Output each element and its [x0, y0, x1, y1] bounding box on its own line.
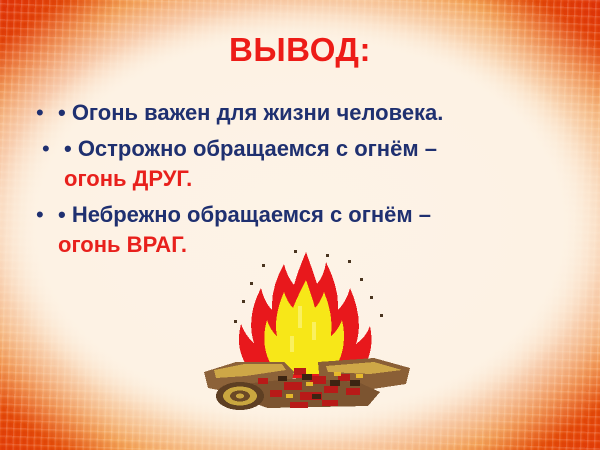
list-item: • • Острожно обращаемся с огнём – огонь … — [36, 134, 536, 194]
list-item-text: • Огонь важен для жизни человека. — [58, 98, 443, 128]
bullet-marker-icon: • — [36, 200, 58, 230]
bullet-marker-icon: • — [36, 134, 64, 164]
list-item: • • Огонь важен для жизни человека. — [36, 98, 536, 128]
bullet-marker-icon: • — [36, 98, 58, 128]
list-item-text: • Острожно обращаемся с огнём – огонь ДР… — [64, 134, 437, 194]
list-item-accent: огонь ДРУГ. — [64, 164, 437, 194]
log-end-rings — [216, 382, 264, 410]
list-item-main: • Острожно обращаемся с огнём – — [64, 136, 437, 161]
bullet-list: • • Огонь важен для жизни человека. • • … — [36, 98, 536, 266]
slide-content: ВЫВОД: • • Огонь важен для жизни человек… — [0, 0, 600, 450]
slide-canvas: ВЫВОД: • • Огонь важен для жизни человек… — [0, 0, 600, 450]
list-item-main: • Огонь важен для жизни человека. — [58, 100, 443, 125]
list-item-main: • Небрежно обращаемся с огнём – — [58, 202, 431, 227]
page-title: ВЫВОД: — [0, 31, 600, 69]
bonfire-image — [198, 248, 414, 420]
